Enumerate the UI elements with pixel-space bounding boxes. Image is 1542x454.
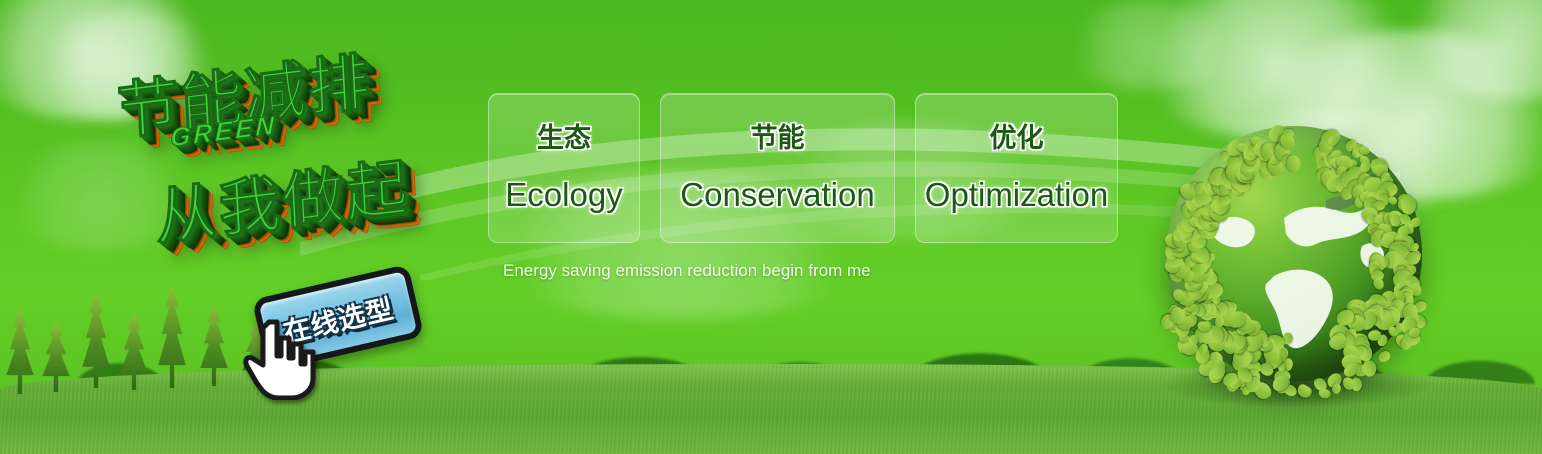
card-optimization-cn: 优化: [990, 125, 1044, 152]
page-title: 节能减排 GREEN 从我做起: [104, 40, 484, 265]
card-ecology-cn: 生态: [537, 125, 591, 152]
card-ecology[interactable]: 生态 Ecology: [488, 93, 640, 243]
card-conservation-en: Conservation: [680, 178, 874, 211]
eco-banner: 节能减排 GREEN 从我做起 在线选型 生态 Ecology 节能 Conse…: [0, 0, 1542, 454]
card-conservation-cn: 节能: [751, 125, 805, 152]
card-optimization-en: Optimization: [925, 178, 1108, 211]
card-conservation[interactable]: 节能 Conservation: [660, 93, 895, 243]
feature-card-list: 生态 Ecology 节能 Conservation 优化 Optimizati…: [488, 93, 1118, 243]
hand-pointer-icon: [243, 316, 319, 400]
card-optimization[interactable]: 优化 Optimization: [915, 93, 1118, 243]
card-ecology-en: Ecology: [505, 178, 622, 211]
tagline: Energy saving emission reduction begin f…: [503, 261, 871, 281]
ivy-covered-earth-globe: [1148, 118, 1438, 418]
cloud-shape: [1060, 0, 1240, 90]
headline-bottom-line: 从我做起: [153, 136, 412, 257]
